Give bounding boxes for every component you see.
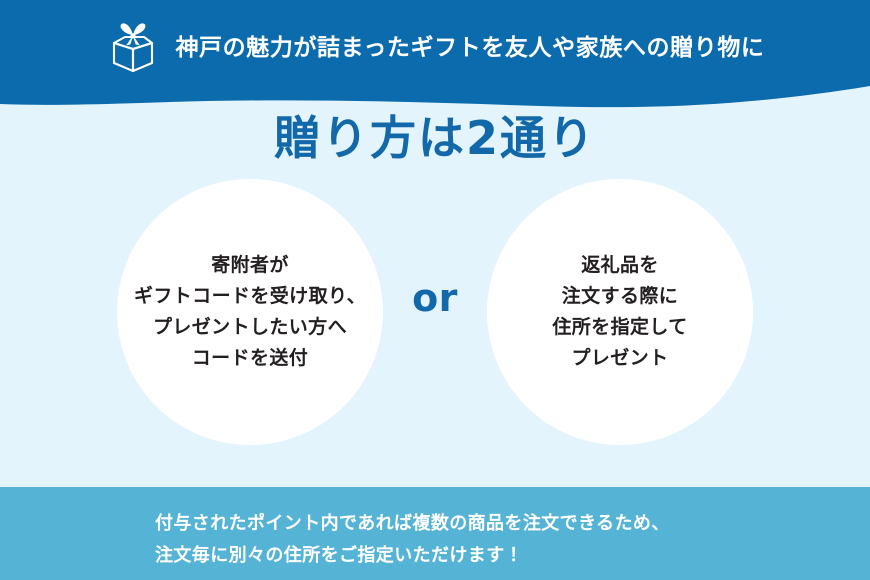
option-text-gift-code: 寄附者が ギフトコードを受け取り、 プレゼントしたい方へ コードを送付 <box>134 250 366 373</box>
gift-box-icon <box>105 22 161 74</box>
option-circle-gift-code: 寄附者が ギフトコードを受け取り、 プレゼントしたい方へ コードを送付 <box>117 179 383 445</box>
footer-line: 付与されたポイント内であれば複数の商品を注文できるため、 <box>155 508 670 540</box>
option-line: ギフトコードを受け取り、 <box>134 281 366 312</box>
footer-line: 注文毎に別々の住所をご指定いただけます！ <box>155 540 670 572</box>
header-content: 神戸の魅力が詰まったギフトを友人や家族への贈り物に <box>0 0 870 96</box>
page-title: 贈り方は2通り <box>0 111 870 166</box>
option-line: 注文する際に <box>552 281 687 312</box>
gift-promotion-banner: 神戸の魅力が詰まったギフトを友人や家族への贈り物に 贈り方は2通り 寄附者が ギ… <box>0 0 870 580</box>
footer-note: 付与されたポイント内であれば複数の商品を注文できるため、 注文毎に別々の住所をご… <box>155 508 670 571</box>
option-line: 寄附者が <box>134 250 366 281</box>
or-separator: or <box>383 279 487 317</box>
header-tagline: 神戸の魅力が詰まったギフトを友人や家族への贈り物に <box>175 37 764 60</box>
option-circle-address: 返礼品を 注文する際に 住所を指定して プレゼント <box>487 179 753 445</box>
option-line: プレゼントしたい方へ <box>134 312 366 343</box>
option-line: 住所を指定して <box>552 312 687 343</box>
option-text-address: 返礼品を 注文する際に 住所を指定して プレゼント <box>552 250 687 373</box>
option-line: プレゼント <box>552 343 687 374</box>
option-line: 返礼品を <box>552 250 687 281</box>
option-line: コードを送付 <box>134 343 366 374</box>
